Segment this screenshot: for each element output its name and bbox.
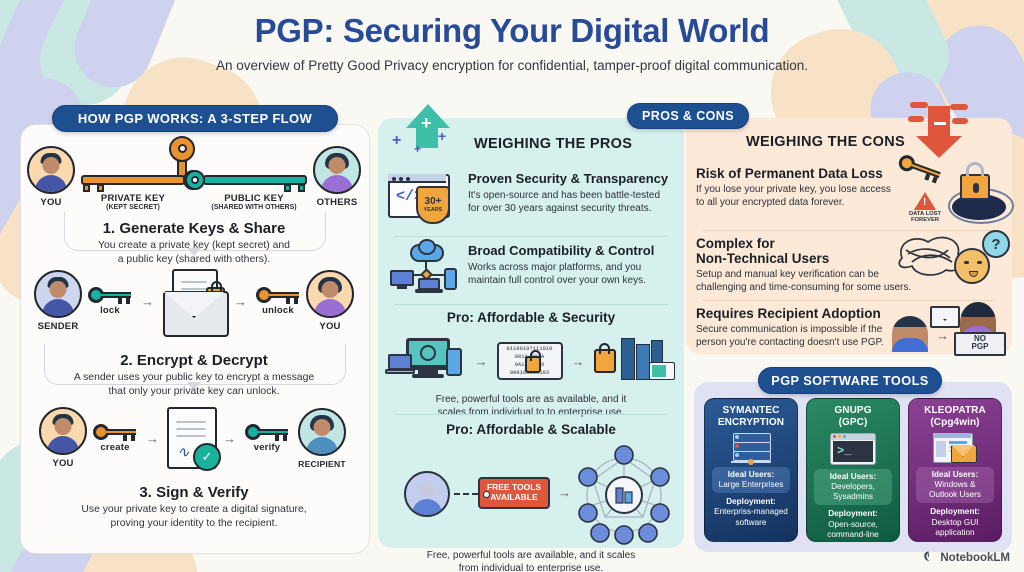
- tool-2-deploy-value-line1: Open-source,: [828, 520, 878, 530]
- badge-tools: PGP SOFTWARE TOOLS: [758, 367, 942, 394]
- arrow-right-icon-1: →: [141, 294, 154, 309]
- step3-action-create: create: [88, 442, 142, 453]
- notebooklm-logo-icon: [922, 550, 935, 566]
- encrypted-envelope-icon: [158, 269, 230, 333]
- flow-step-1-art: YOU: [20, 146, 368, 208]
- tool-1-users-label: Ideal Users:: [716, 470, 785, 480]
- pros-content: + + + + WEIGHING THE PROS </> 30+ YEARS …: [378, 118, 684, 548]
- step3-action-verify: verify: [240, 442, 294, 453]
- avatar-others-step1: [313, 146, 361, 194]
- avatar-label-others-step1: OTHERS: [311, 197, 363, 208]
- confusion-art: ?: [894, 230, 1010, 294]
- devices-icon: [388, 338, 466, 384]
- lock-key-icon: [88, 287, 132, 303]
- page-header: PGP: Securing Your Digital World An over…: [0, 12, 1024, 73]
- adoption-art: → NO PGP: [892, 302, 1012, 360]
- cons-heading: WEIGHING THE CONS: [746, 134, 905, 150]
- cloud-devices-icon: [388, 244, 460, 296]
- con-item-2: Complex for Non-Technical Users Setup an…: [696, 236, 1002, 295]
- arrow-right-icon-8: →: [936, 328, 949, 343]
- tool-2-deploy-value-line2: command-line: [827, 530, 878, 540]
- arrow-right-icon-3: →: [146, 431, 159, 446]
- step-1-desc-line2: a public key (shared with others).: [20, 253, 368, 267]
- tool-card-symantec[interactable]: SYMANTEC ENCRYPTION Ideal Users: Large E…: [704, 398, 798, 542]
- public-key-icon: [185, 170, 307, 190]
- page-subtitle: An overview of Pretty Good Privacy encry…: [0, 58, 1024, 73]
- avatar-you-step1: [27, 146, 75, 194]
- tool-3-name-line2: (Cpg4win): [930, 417, 979, 429]
- step-2-desc-line2: that only your private key can unlock.: [20, 385, 368, 399]
- tool-3-users-value-line1: Windows &: [920, 480, 989, 490]
- pro-block-1: Pro: Affordable & Security → 0110010?111…: [378, 310, 684, 420]
- tool-3-users-badge: Ideal Users: Windows & Outlook Users: [916, 467, 993, 504]
- tool-3-users-value-line2: Outlook Users: [920, 490, 989, 500]
- tool-1-name-line2: ENCRYPTION: [718, 417, 784, 429]
- flow-step-3-text: 3. Sign & Verify Use your private key to…: [20, 484, 368, 530]
- arrow-right-icon-5: →: [475, 354, 488, 369]
- no-pgp-sign-line2: PGP: [956, 343, 1004, 351]
- pro-item-1-desc-line1: It's open-source and has been battle-tes…: [468, 189, 678, 202]
- tool-2-deploy-label: Deployment:: [828, 509, 878, 519]
- tools-content: SYMANTEC ENCRYPTION Ideal Users: Large E…: [694, 382, 1012, 552]
- tool-1-deploy-label: Deployment:: [726, 497, 776, 507]
- page-title: PGP: Securing Your Digital World: [0, 12, 1024, 50]
- encryption-flow-art: → 0110010?111010 001A 001A 0A1A 0010 000…: [378, 329, 684, 393]
- tool-3-users-label: Ideal Users:: [920, 470, 989, 480]
- binary-data-icon: 0110010?111010 001A 001A 0A1A 0010 00010…: [497, 342, 563, 380]
- pro-block-2: Pro: Affordable & Scalable FREE TOOLS AV…: [378, 422, 684, 572]
- step2-action-unlock: unlock: [251, 305, 305, 316]
- badge-flow: HOW PGP WORKS: A 3-STEP FLOW: [52, 105, 338, 132]
- avatar-you-step2: [306, 270, 354, 318]
- pro-item-1-desc-line2: for over 30 years against security threa…: [468, 202, 678, 215]
- con-item-1: Risk of Permanent Data Loss If you lose …: [696, 166, 1002, 209]
- step-2-title: 2. Encrypt & Decrypt: [20, 352, 368, 369]
- step-2-desc-line1: A sender uses your public key to encrypt…: [20, 371, 368, 385]
- private-key-sublabel: (KEPT SECRET): [77, 204, 189, 211]
- step-3-desc-line2: proving your identity to the recipient.: [20, 517, 368, 531]
- enterprise-network-icon: [574, 445, 674, 545]
- years-badge-label: YEARS: [424, 207, 443, 213]
- flow-step-1-text: 1. Generate Keys & Share You create a pr…: [20, 220, 368, 266]
- avatar-label-sender: SENDER: [33, 321, 83, 332]
- pro-block-1-title: Pro: Affordable & Security: [378, 310, 684, 325]
- unlock-key-icon: [256, 287, 300, 303]
- step-1-desc-line1: You create a private key (kept secret) a…: [20, 239, 368, 253]
- pro-item-1-title: Proven Security & Transparency: [468, 172, 678, 187]
- years-badge-value: 30+: [425, 197, 442, 207]
- signed-document-icon: ∿ ∿ ✓: [163, 405, 219, 471]
- pros-heading: WEIGHING THE PROS: [474, 136, 632, 152]
- server-rack-icon: [729, 433, 773, 463]
- keys-graphic: PRIVATE KEY (KEPT SECRET) PUBLIC KEY (SH…: [81, 146, 307, 208]
- create-key-icon: [93, 424, 137, 440]
- avatar-label-recipient: RECIPIENT: [294, 459, 350, 469]
- verified-check-icon: ✓: [193, 443, 221, 471]
- enterprise-servers-icon: [621, 338, 675, 384]
- terminal-icon: >_: [830, 433, 876, 465]
- tool-1-users-value-line1: Large Enterprises: [716, 480, 785, 490]
- badge-pros-cons: PROS & CONS: [627, 103, 749, 129]
- step-3-desc-line1: Use your private key to create a digital…: [20, 503, 368, 517]
- tool-2-users-value-line1: Developers,: [818, 482, 887, 492]
- watermark-label: NotebookLM: [940, 552, 1010, 564]
- pros-divider-2: [394, 304, 668, 305]
- tool-card-gnupg[interactable]: GNUPG (GPC) >_ Ideal Users: Developers, …: [806, 398, 900, 542]
- pro-block-2-title: Pro: Affordable & Scalable: [378, 422, 684, 437]
- declining-arrow-icon: [908, 100, 970, 160]
- tool-3-deploy-value-line2: application: [935, 528, 974, 538]
- cons-divider-2: [702, 300, 996, 301]
- tool-1-users-badge: Ideal Users: Large Enterprises: [712, 467, 789, 494]
- data-loss-art: ! DATA LOST FOREVER: [892, 158, 1010, 228]
- tool-3-name-line1: KLEOPATRA: [924, 405, 986, 417]
- avatar-recipient-step3: [298, 408, 346, 456]
- tool-3-deploy-label: Deployment:: [930, 507, 980, 517]
- arrow-right-icon-2: →: [234, 294, 247, 309]
- pro-block-1-desc-line1: Free, powerful tools are as available, a…: [378, 393, 684, 406]
- tool-2-users-label: Ideal Users:: [818, 472, 887, 482]
- pro-block-2-desc-line2: from individual to enterprise use.: [378, 562, 684, 572]
- scalability-art: FREE TOOLS AVAILABLE →: [378, 441, 684, 549]
- cons-content: WEIGHING THE CONS Risk of Permanent Data…: [686, 118, 1012, 354]
- flow-content: YOU: [20, 124, 368, 552]
- step-3-title: 3. Sign & Verify: [20, 484, 368, 501]
- falling-key-icon: [897, 153, 944, 183]
- watermark: NotebookLM: [922, 550, 1010, 566]
- avatar-label-you-step2: YOU: [305, 321, 355, 332]
- free-tools-tag-line2: AVAILABLE: [490, 493, 537, 503]
- verify-key-icon: [245, 424, 289, 440]
- pro-item-2: Broad Compatibility & Control Works acro…: [388, 244, 678, 296]
- tool-1-name-line1: SYMANTEC: [723, 405, 780, 417]
- pro-item-2-desc-line2: maintain full control over your own keys…: [468, 274, 678, 287]
- mail-window-icon: [933, 433, 977, 463]
- growth-arrow-icon: + + + +: [392, 104, 458, 164]
- free-tools-tag: FREE TOOLS AVAILABLE: [478, 477, 550, 509]
- flow-step-2-art: SENDER lock →: [20, 266, 368, 336]
- tool-card-kleopatra[interactable]: KLEOPATRA (Cpg4win) Ideal Users: Windows…: [908, 398, 1002, 542]
- private-key-label: PRIVATE KEY: [77, 193, 189, 204]
- data-lost-label-line2: FOREVER: [898, 217, 952, 223]
- pro-item-1: </> 30+ YEARS Proven Security & Transpar…: [388, 172, 678, 224]
- individual-user-icon: [404, 471, 450, 517]
- arrow-right-icon-4: →: [223, 431, 236, 446]
- question-mark-glyph: ?: [991, 236, 1000, 253]
- avatar-label-you-step3: YOU: [38, 458, 88, 469]
- lock-icon-pros: [594, 349, 616, 373]
- avatar-label-you-step1: YOU: [25, 197, 77, 208]
- tool-2-users-badge: Ideal Users: Developers, Sysadmins: [814, 469, 891, 506]
- arrow-right-icon-6: →: [572, 354, 585, 369]
- pro-item-2-title: Broad Compatibility & Control: [468, 244, 678, 259]
- public-key-sublabel: (SHARED WITH OTHERS): [197, 204, 311, 211]
- public-key-label: PUBLIC KEY: [197, 193, 311, 204]
- con-item-3: Requires Recipient Adoption Secure commu…: [696, 306, 1002, 349]
- avatar-you-step3: [39, 407, 87, 455]
- open-source-code-icon: </> 30+ YEARS: [388, 172, 460, 224]
- pro-block-2-desc-line1: Free, powerful tools are available, and …: [378, 549, 684, 562]
- tool-1-deploy-value-line1: Enterpriss-managed: [714, 507, 788, 517]
- flow-step-2-text: 2. Encrypt & Decrypt A sender uses your …: [20, 352, 368, 398]
- pros-divider-3: [394, 414, 668, 415]
- tool-1-deploy-value-line2: software: [736, 518, 767, 528]
- pro-item-2-desc-line1: Works across major platforms, and you: [468, 261, 678, 274]
- step2-action-lock: lock: [83, 305, 137, 316]
- tool-2-users-value-line2: Sysadmins: [818, 492, 887, 502]
- arrow-right-icon-7: →: [558, 485, 571, 500]
- tool-3-deploy-value-line1: Desktop GUI: [932, 518, 979, 528]
- avatar-sender-step2: [34, 270, 82, 318]
- flow-step-3-art: YOU create → ∿ ∿ ✓: [20, 402, 368, 474]
- step-1-title: 1. Generate Keys & Share: [20, 220, 368, 237]
- tool-2-name-line1: GNUPG: [834, 405, 871, 417]
- tool-2-name-line2: (GPC): [839, 417, 868, 429]
- pros-divider-1: [394, 236, 668, 237]
- infographic-root: PGP: Securing Your Digital World An over…: [0, 0, 1024, 572]
